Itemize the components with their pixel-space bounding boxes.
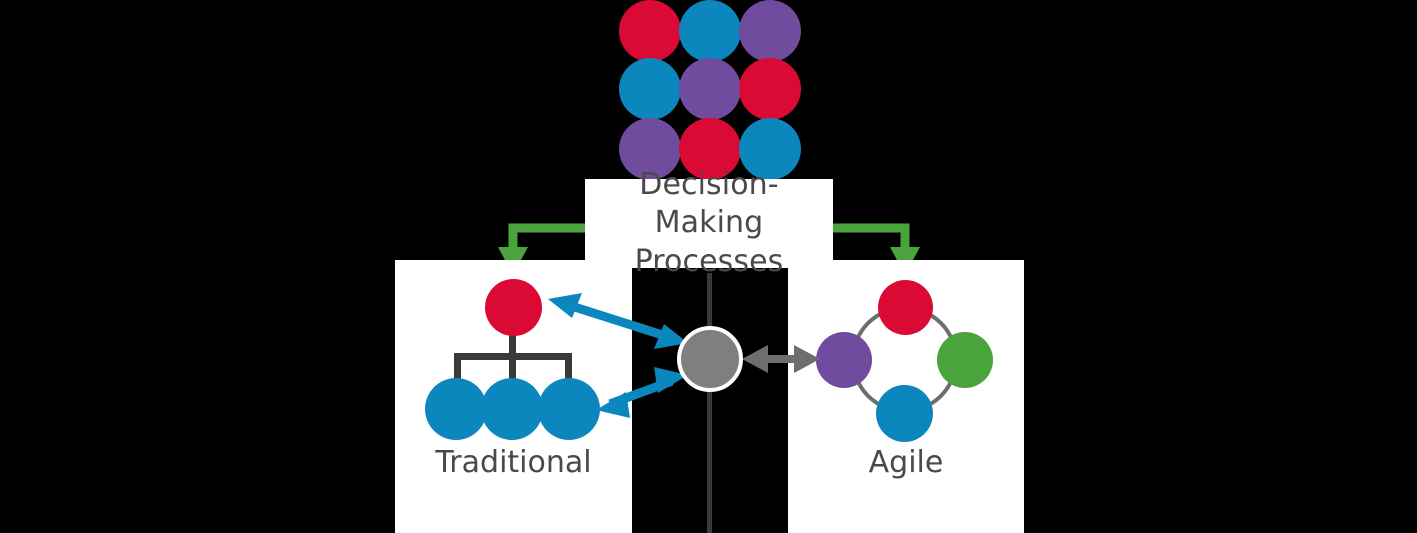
grid-cell-0-1 bbox=[679, 0, 741, 62]
page-title-line2: Processes bbox=[585, 243, 833, 281]
grid-cell-1-0 bbox=[619, 58, 681, 120]
root-node bbox=[485, 279, 542, 336]
top-node bbox=[878, 280, 933, 335]
grid-cell-1-1 bbox=[679, 58, 741, 120]
right-panel-label: Agile bbox=[788, 445, 1024, 480]
right-node bbox=[937, 332, 993, 388]
child-node-1 bbox=[425, 378, 487, 440]
grid-cell-0-0 bbox=[619, 0, 681, 62]
left-node bbox=[816, 332, 872, 388]
bottom-node bbox=[876, 385, 933, 442]
left-panel-label: Traditional bbox=[395, 445, 632, 480]
diagram-canvas: Decision-Making Processes Traditional Ag… bbox=[0, 0, 1417, 533]
grid-cell-1-2 bbox=[739, 58, 801, 120]
decision-hub-node bbox=[677, 326, 743, 392]
center-divider-line bbox=[707, 273, 712, 533]
child-node-2 bbox=[481, 378, 543, 440]
child-node-3 bbox=[538, 378, 600, 440]
page-title-line1: Decision-Making bbox=[585, 166, 833, 243]
grid-cell-0-2 bbox=[739, 0, 801, 62]
page-title-box: Decision-Making Processes bbox=[585, 179, 833, 268]
